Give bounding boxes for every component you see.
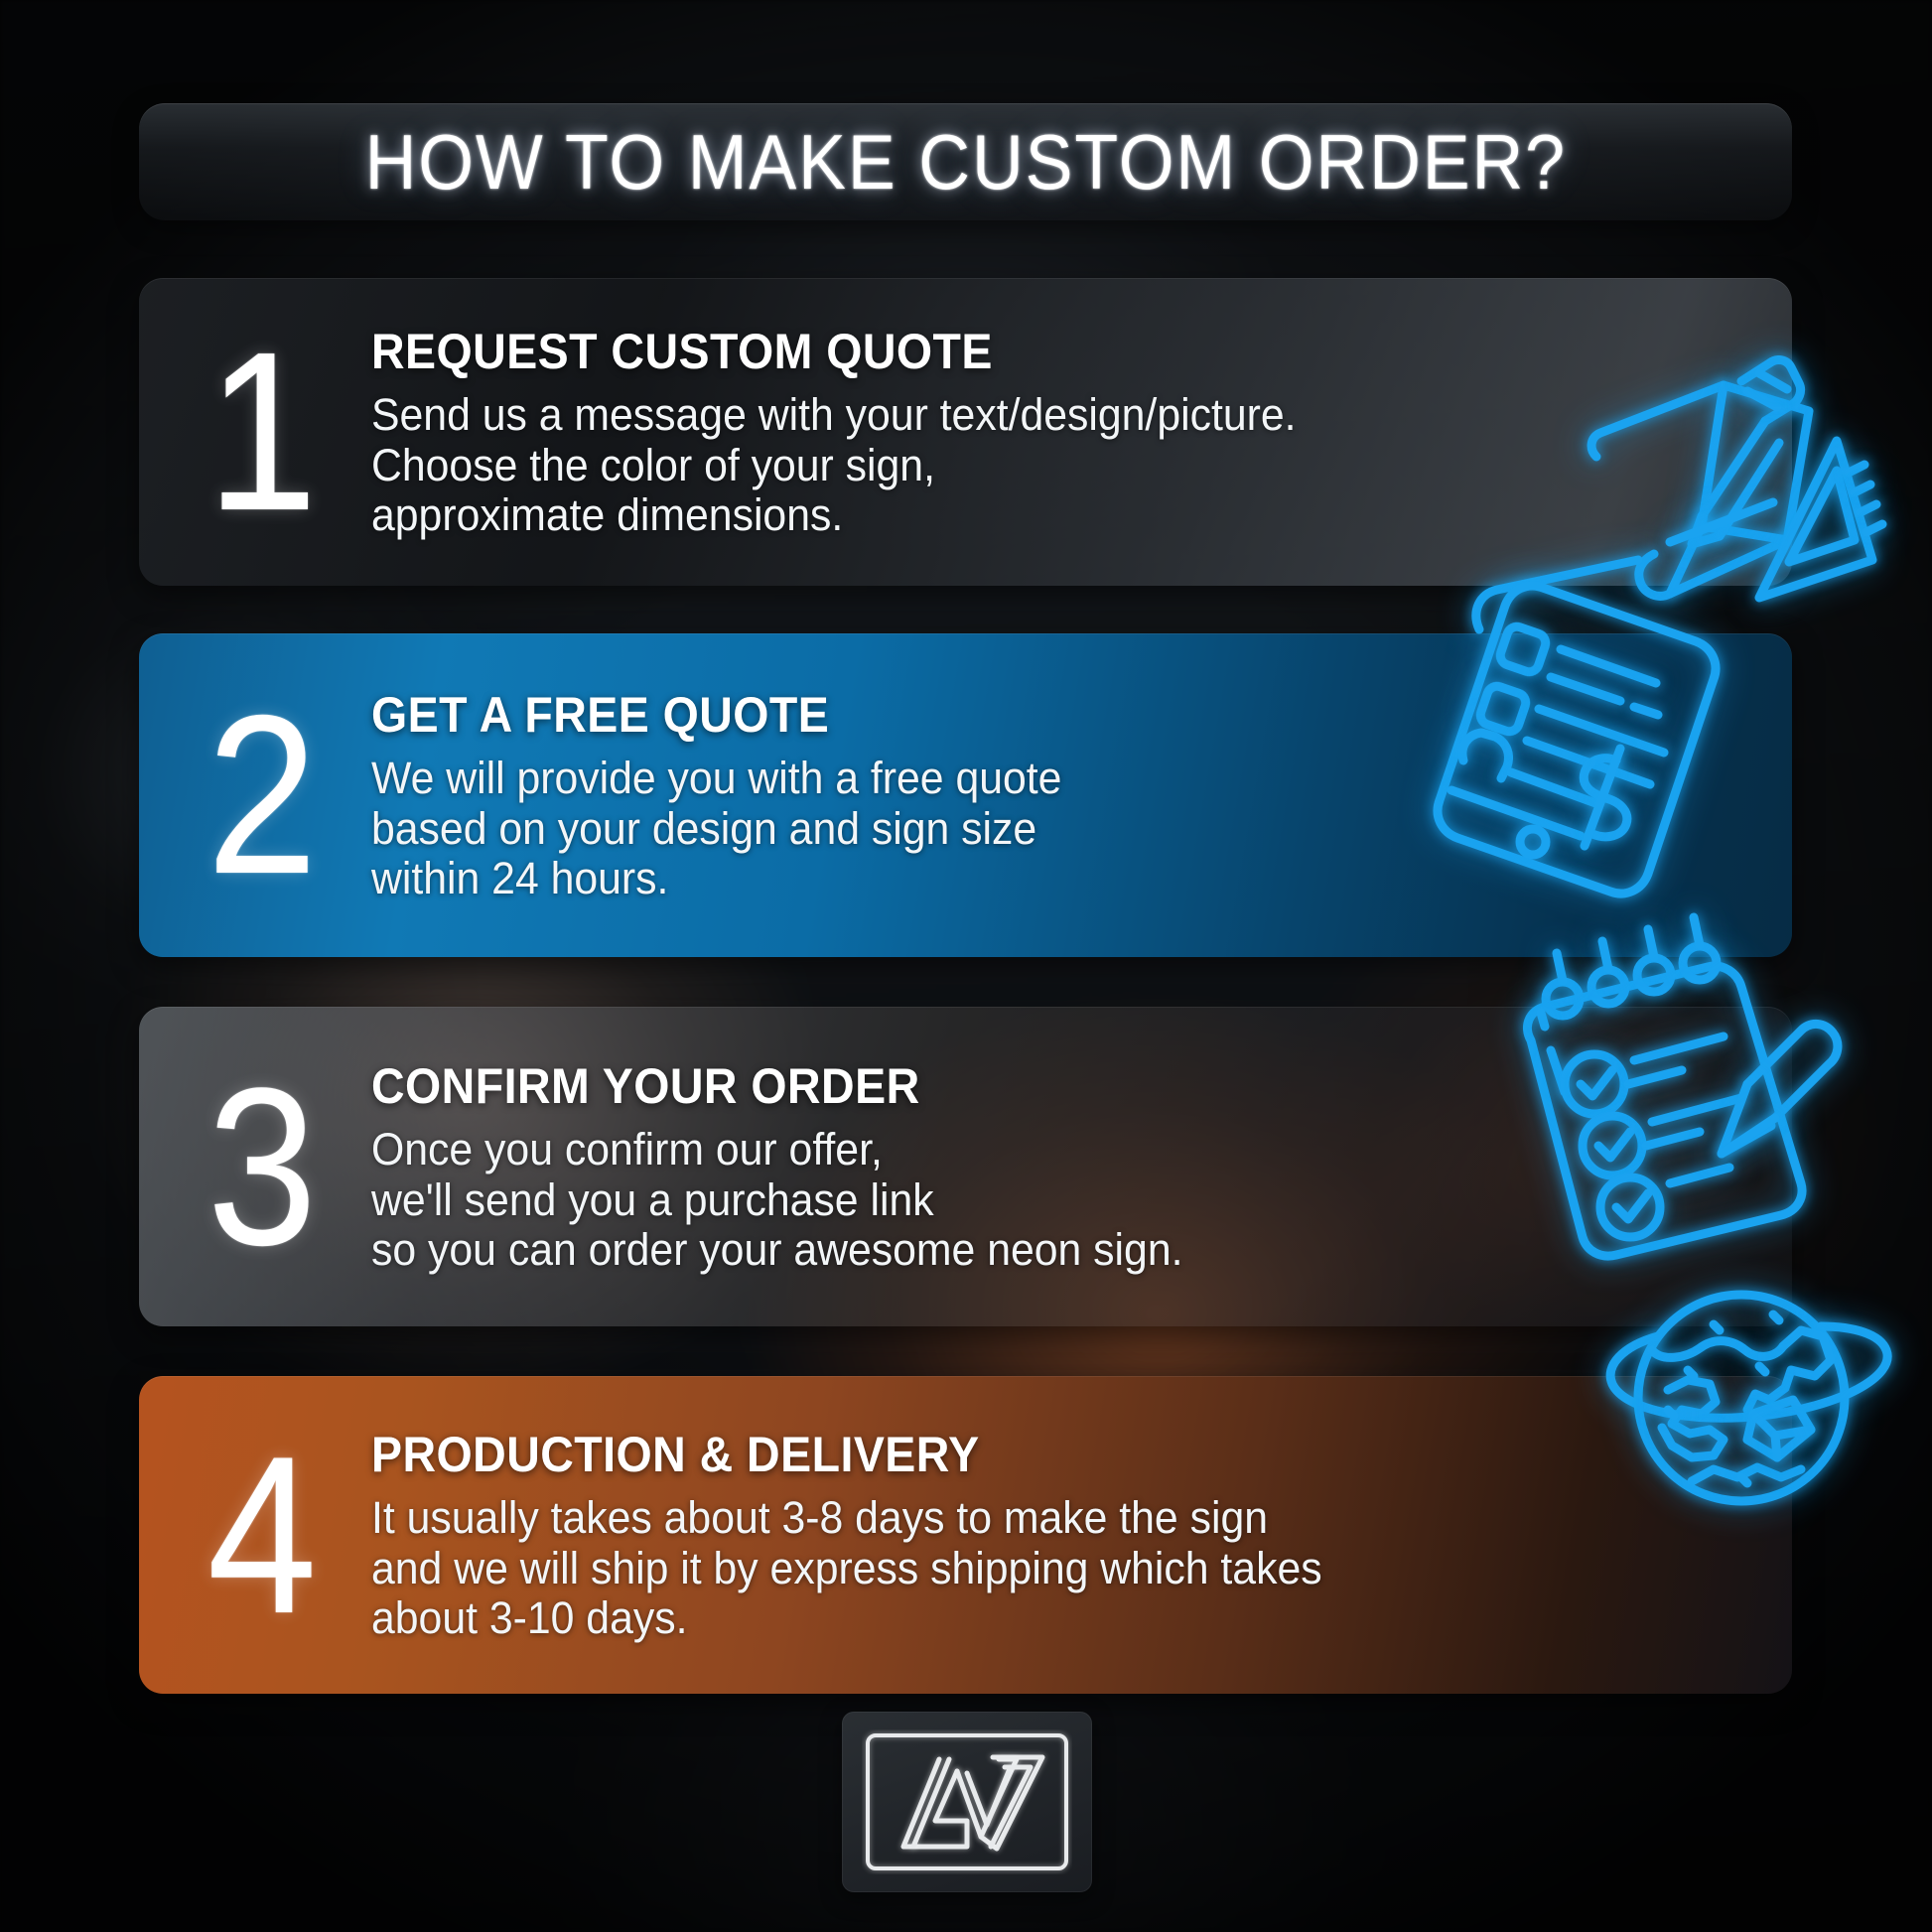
step-card-4: 4 PRODUCTION & DELIVERY It usually takes… [139,1376,1792,1694]
step-number-4: 4 [189,1443,336,1626]
infographic-page: HOW TO MAKE CUSTOM ORDER? 1 REQUEST CUST… [0,0,1932,1932]
step-2-title: GET A FREE QUOTE [371,686,1656,744]
step-number-3: 3 [189,1074,336,1258]
step-1-title: REQUEST CUSTOM QUOTE [371,323,1656,380]
step-1-line-2: Choose the color of your sign, [371,441,1683,490]
brand-logo [842,1712,1092,1892]
step-4-line-3: about 3-10 days. [371,1593,1683,1643]
step-card-2: 2 GET A FREE QUOTE We will provide you w… [139,633,1792,957]
step-4-line-1: It usually takes about 3-8 days to make … [371,1493,1683,1543]
page-title-bar: HOW TO MAKE CUSTOM ORDER? [139,103,1792,220]
step-1-line-1: Send us a message with your text/design/… [371,390,1683,440]
step-number-2: 2 [189,703,336,889]
step-3-title: CONFIRM YOUR ORDER [371,1057,1656,1115]
step-4-line-2: and we will ship it by express shipping … [371,1544,1683,1593]
step-3-line-1: Once you confirm our offer, [371,1125,1683,1174]
step-1-content: REQUEST CUSTOM QUOTE Send us a message w… [345,323,1752,540]
step-1-line-3: approximate dimensions. [371,490,1683,540]
page-title: HOW TO MAKE CUSTOM ORDER? [364,117,1566,207]
step-2-line-3: within 24 hours. [371,854,1683,903]
step-2-line-2: based on your design and sign size [371,804,1683,854]
step-3-line-3: so you can order your awesome neon sign. [371,1225,1683,1275]
step-card-1: 1 REQUEST CUSTOM QUOTE Send us a message… [139,278,1792,586]
step-number-1: 1 [189,340,336,525]
step-4-content: PRODUCTION & DELIVERY It usually takes a… [345,1426,1752,1643]
step-4-title: PRODUCTION & DELIVERY [371,1426,1656,1483]
step-3-line-2: we'll send you a purchase link [371,1175,1683,1225]
step-card-3: 3 CONFIRM YOUR ORDER Once you confirm ou… [139,1007,1792,1326]
step-3-content: CONFIRM YOUR ORDER Once you confirm our … [345,1057,1752,1275]
step-2-content: GET A FREE QUOTE We will provide you wit… [345,686,1752,903]
step-2-line-1: We will provide you with a free quote [371,754,1683,803]
